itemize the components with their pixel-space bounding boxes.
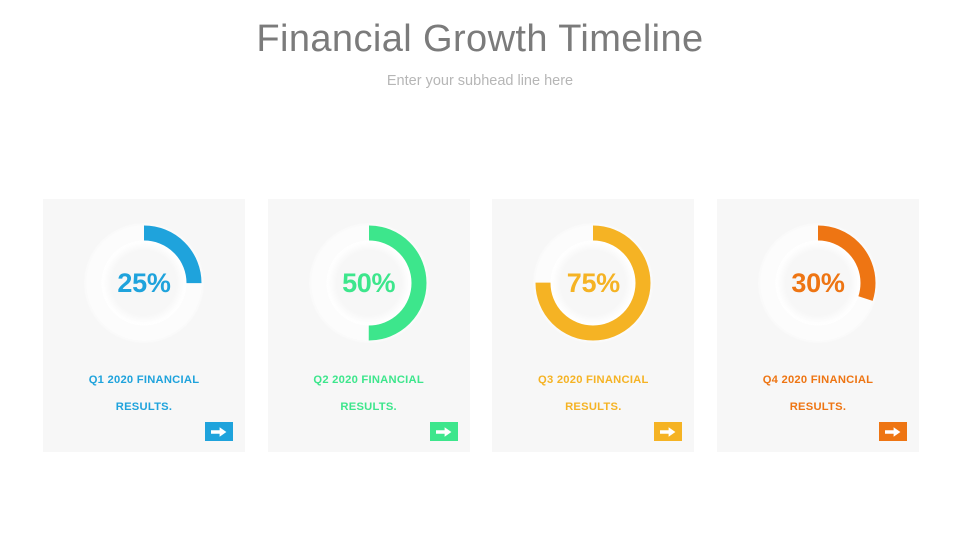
card-caption-line1: Q2 2020 FINANCIAL [278, 367, 460, 394]
card-next-button[interactable] [205, 422, 233, 441]
card-caption-line1: Q3 2020 FINANCIAL [502, 367, 684, 394]
page-subtitle: Enter your subhead line here [0, 71, 960, 91]
donut-percent-label: 30% [754, 219, 882, 347]
card-caption: Q4 2020 FINANCIALRESULTS. [727, 367, 909, 421]
donut-percent-label: 50% [305, 219, 433, 347]
quarter-card[interactable]: 30%Q4 2020 FINANCIALRESULTS. [717, 199, 919, 452]
donut-chart: 30% [754, 219, 882, 347]
page-title: Financial Growth Timeline [0, 16, 960, 62]
card-caption-line2: RESULTS. [278, 394, 460, 421]
card-caption: Q3 2020 FINANCIALRESULTS. [502, 367, 684, 421]
card-next-button[interactable] [654, 422, 682, 441]
arrow-right-icon [436, 426, 452, 438]
donut-chart: 75% [529, 219, 657, 347]
donut-chart: 50% [305, 219, 433, 347]
arrow-right-icon [211, 426, 227, 438]
card-next-button[interactable] [879, 422, 907, 441]
card-caption-line2: RESULTS. [727, 394, 909, 421]
quarter-card[interactable]: 75%Q3 2020 FINANCIALRESULTS. [492, 199, 694, 452]
arrow-right-icon [660, 426, 676, 438]
donut-percent-label: 25% [80, 219, 208, 347]
card-caption: Q2 2020 FINANCIALRESULTS. [278, 367, 460, 421]
donut-chart: 25% [80, 219, 208, 347]
card-caption-line2: RESULTS. [53, 394, 235, 421]
card-caption-line1: Q4 2020 FINANCIAL [727, 367, 909, 394]
card-caption: Q1 2020 FINANCIALRESULTS. [53, 367, 235, 421]
card-caption-line2: RESULTS. [502, 394, 684, 421]
quarter-card[interactable]: 25%Q1 2020 FINANCIALRESULTS. [43, 199, 245, 452]
quarter-cards-row: 25%Q1 2020 FINANCIALRESULTS.50%Q2 2020 F… [43, 199, 919, 452]
donut-percent-label: 75% [529, 219, 657, 347]
arrow-right-icon [885, 426, 901, 438]
slide-header: Financial Growth Timeline Enter your sub… [0, 0, 960, 91]
card-caption-line1: Q1 2020 FINANCIAL [53, 367, 235, 394]
card-next-button[interactable] [430, 422, 458, 441]
quarter-card[interactable]: 50%Q2 2020 FINANCIALRESULTS. [268, 199, 470, 452]
